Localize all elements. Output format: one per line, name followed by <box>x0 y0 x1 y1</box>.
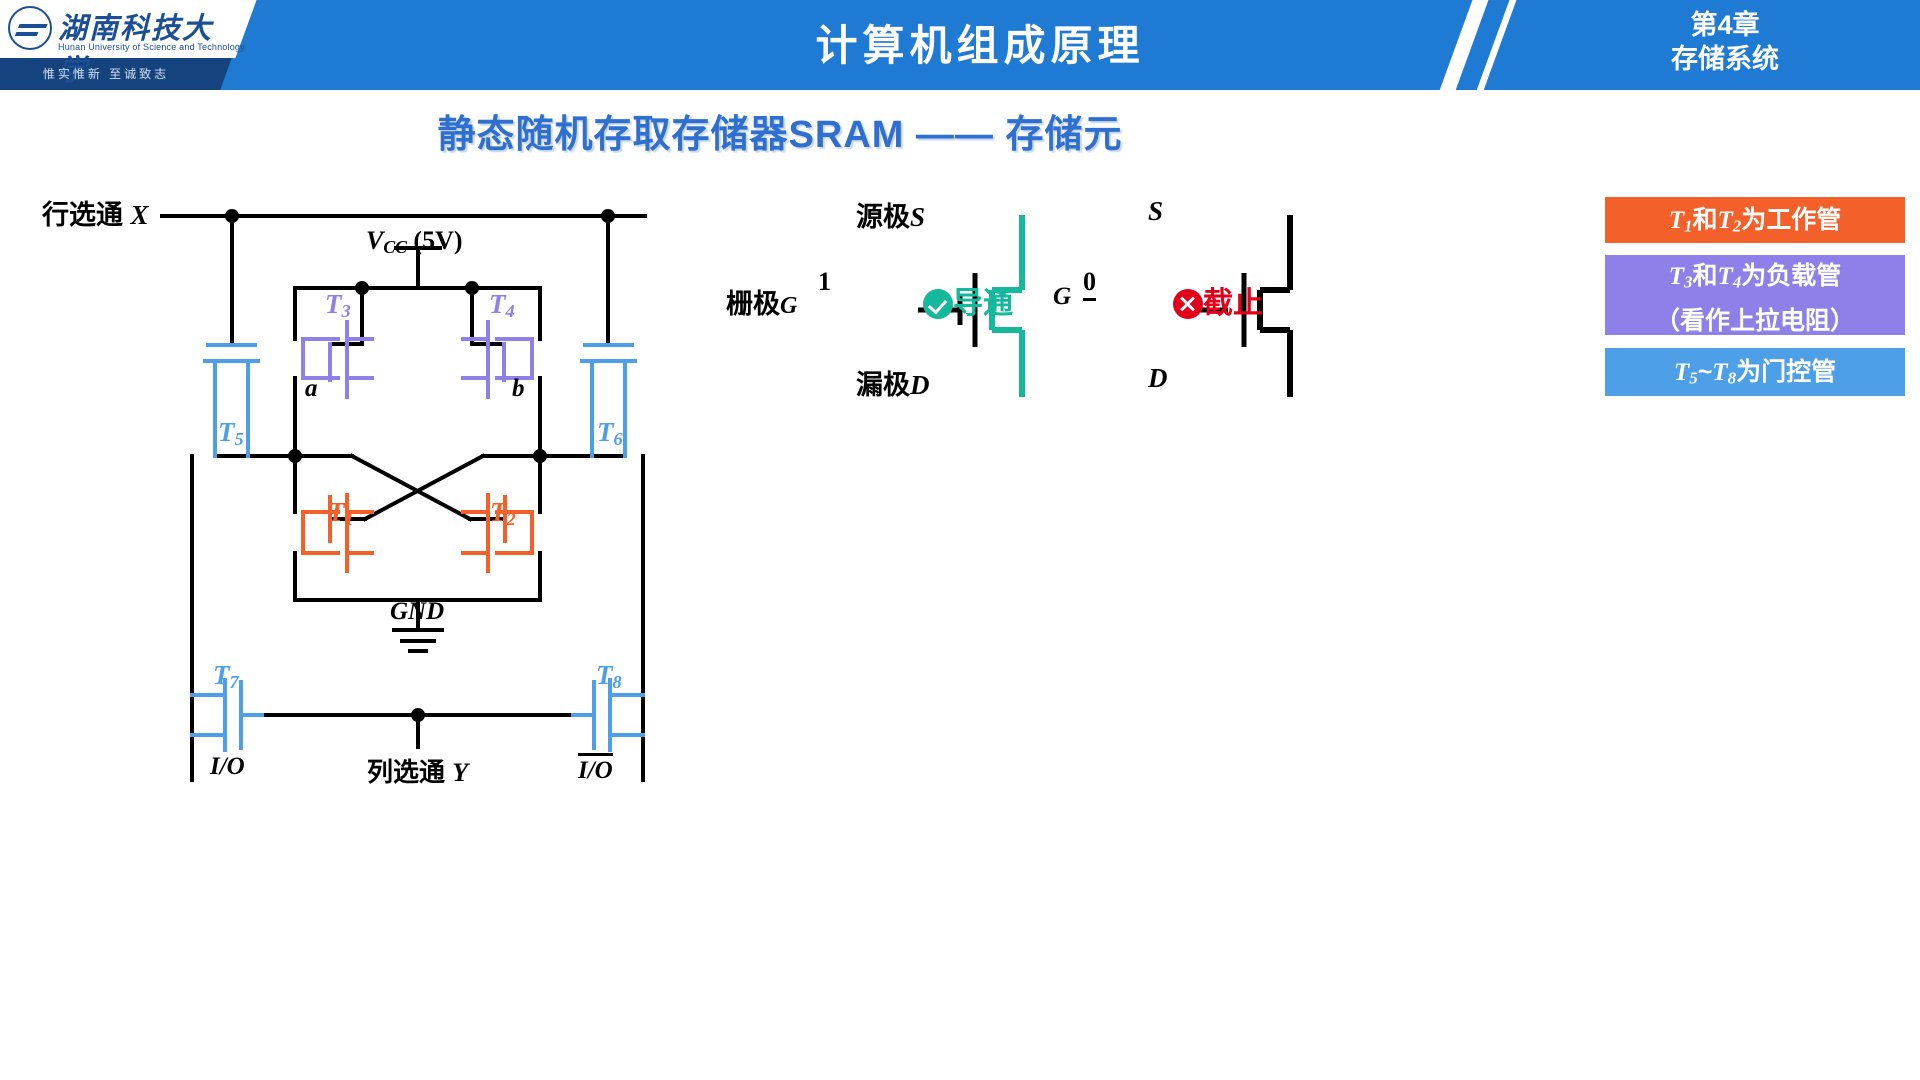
mosfet-on-drain-label: 漏极D <box>856 363 930 402</box>
transistor-label-T6: T6 <box>597 417 623 450</box>
sram-cell-circuit-diagram <box>0 175 820 815</box>
vcc-label: VCC (5V) <box>366 226 463 258</box>
mosfet-off-state: 截止 <box>1173 278 1263 322</box>
transistor-label-T1: T1 <box>328 497 354 530</box>
university-motto: 惟实惟新 至诚致志 <box>8 60 204 88</box>
row-select-label: 行选通 X <box>42 193 149 232</box>
col-select-text: 列选通 <box>367 757 445 787</box>
check-circle-icon <box>923 289 953 319</box>
university-logo-panel: 湖南科技大学 Hunan University of Science and T… <box>0 0 235 90</box>
mosfet-on-gate-label: 栅极G <box>726 282 797 321</box>
vcc-symbol: V <box>366 226 383 255</box>
io-label: I/O <box>210 753 245 781</box>
app-header: 计算机组成原理 第4章 存储系统 <box>0 0 1920 90</box>
chapter-indicator: 第4章 存储系统 <box>1560 8 1890 76</box>
vcc-value: (5V) <box>413 226 462 255</box>
transistor-label-T7: T7 <box>213 660 239 693</box>
transistor-label-T3: T3 <box>325 289 351 322</box>
mosfet-off-symbol <box>1260 215 1290 397</box>
university-name-en: Hunan University of Science and Technolo… <box>58 42 245 52</box>
legend-load-line1: T3和T4为负载管 <box>1605 257 1905 302</box>
io-bar-label: I/O <box>578 753 613 785</box>
transistor-label-T8: T8 <box>596 660 622 693</box>
col-select-var: Y <box>452 758 468 787</box>
chapter-name: 存储系统 <box>1560 42 1890 76</box>
gnd-label: GND <box>390 598 444 626</box>
mosfet-off-drain-label: D <box>1148 363 1168 394</box>
row-select-var: X <box>131 200 149 230</box>
legend-load-transistors: T3和T4为负载管 （看作上拉电阻） <box>1605 255 1905 335</box>
transistor-label-T4: T4 <box>489 289 515 322</box>
mosfet-on-state-text: 导通 <box>953 287 1013 320</box>
row-select-text: 行选通 <box>42 200 123 230</box>
course-title: 计算机组成原理 <box>640 12 1320 73</box>
mosfet-on-source-label: 源极S <box>856 195 925 234</box>
node-a-label: a <box>305 375 318 403</box>
cross-circle-icon <box>1173 289 1203 319</box>
slide-title: 静态随机存取存储器SRAM —— 存储元 <box>0 103 1560 158</box>
legend-load-line2: （看作上拉电阻） <box>1605 302 1905 340</box>
university-emblem-icon <box>8 6 52 50</box>
legend-gate-control-transistors: T5~T8为门控管 <box>1605 348 1905 396</box>
mosfet-off-source-label: S <box>1148 196 1163 227</box>
transistor-label-T2: T2 <box>490 497 516 530</box>
mosfet-on-state: 导通 <box>923 278 1013 322</box>
mosfet-off-gate-value: 0 <box>1083 267 1096 301</box>
col-select-label: 列选通 Y <box>367 752 468 789</box>
legend-working-transistors: T1和T2为工作管 <box>1605 197 1905 243</box>
chapter-number: 第4章 <box>1560 8 1890 42</box>
transistor-label-T5: T5 <box>218 417 244 450</box>
node-b-label: b <box>512 375 525 403</box>
mosfet-off-gate-label: G <box>1053 283 1071 311</box>
vcc-subscript: CC <box>383 237 407 257</box>
mosfet-on-gate-value: 1 <box>818 267 831 297</box>
mosfet-off-state-text: 截止 <box>1203 287 1263 320</box>
